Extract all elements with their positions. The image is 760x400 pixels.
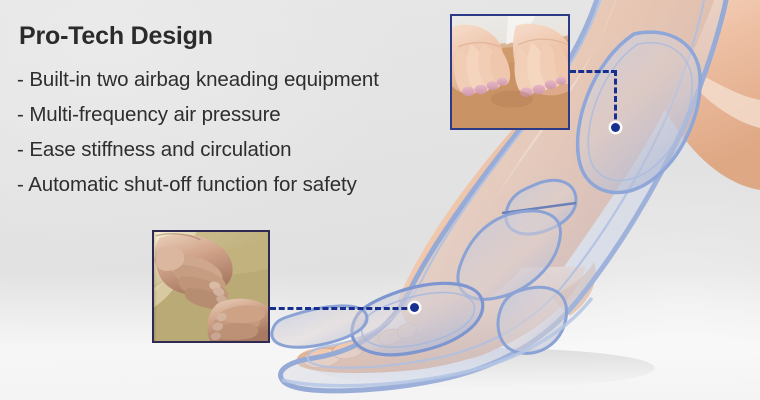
feature-list-item: - Built-in two airbag kneading equipment — [17, 62, 457, 97]
feature-list: - Built-in two airbag kneading equipment… — [17, 62, 457, 202]
inset-inner-shadow — [154, 232, 157, 341]
calf-callout-target-dot — [611, 123, 620, 132]
feature-list-item: - Ease stiffness and circulation — [17, 132, 457, 167]
right-hand — [513, 24, 568, 97]
calf-callout-leader-vertical — [614, 70, 617, 128]
heel-chamber — [498, 287, 566, 353]
lower-hand — [207, 299, 268, 341]
feature-list-item: - Automatic shut-off function for safety — [17, 167, 457, 202]
page-title: Pro-Tech Design — [19, 22, 213, 51]
instep-callout-leader-horizontal — [270, 307, 416, 310]
feature-list-item: - Multi-frequency air pressure — [17, 97, 457, 132]
hands-kneading-foot-photo — [152, 230, 270, 343]
calf-callout-leader-horizontal — [570, 70, 617, 73]
instep-callout-target-dot — [410, 303, 419, 312]
hands-kneading-calf-photo — [450, 14, 570, 130]
product-feature-banner: Pro-Tech Design - Built-in two airbag kn… — [0, 0, 760, 400]
